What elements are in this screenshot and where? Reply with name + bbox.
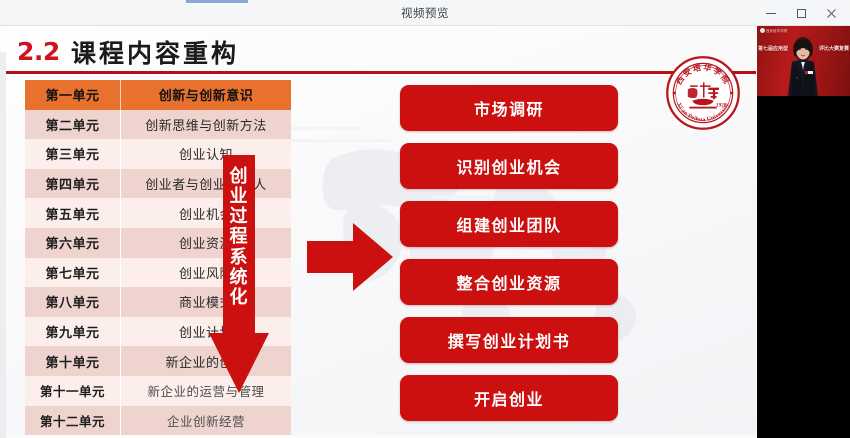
course-units-table: 第一单元 创新与创新意识 第二单元 创新思维与创新方法 第三单元 创业认知 第四… xyxy=(25,80,291,435)
unit-label: 第五单元 xyxy=(25,198,121,228)
unit-label: 第六单元 xyxy=(25,228,121,258)
unit-label: 第十一单元 xyxy=(25,376,121,406)
table-row: 第十单元 新企业的创建 xyxy=(25,346,291,376)
startup-process-flow: 市场调研 识别创业机会 组建创业团队 整合创业资源 撰写创业计划书 开启创业 xyxy=(400,85,618,421)
slide-header: 2.2 课程内容重构 xyxy=(1,31,756,75)
process-step-box[interactable]: 开启创业 xyxy=(400,375,618,421)
unit-content: 企业创新经营 xyxy=(121,406,291,435)
process-step-box[interactable]: 市场调研 xyxy=(400,85,618,131)
unit-content: 创业计划 xyxy=(121,317,291,347)
window-titlebar: 视频预览 xyxy=(0,0,850,26)
xian-peihua-university-seal-icon: 西安培华学院 Xi'an Peihua University 1928 xyxy=(665,55,741,131)
unit-label: 第七单元 xyxy=(25,258,121,288)
presenter-avatar xyxy=(786,32,820,96)
video-badge-text: 西安培华学院 xyxy=(766,28,788,33)
table-row: 第四单元 创业者与创业合伙人 xyxy=(25,169,291,199)
slide-canvas: 2.2 课程内容重构 西安培华学院 Xi'an Peihua Universit… xyxy=(1,27,756,435)
maximize-button[interactable] xyxy=(786,1,816,25)
unit-content: 商业模式 xyxy=(121,287,291,317)
process-step-box[interactable]: 识别创业机会 xyxy=(400,143,618,189)
process-step-box[interactable]: 撰写创业计划书 xyxy=(400,317,618,363)
table-row: 第二单元 创新思维与创新方法 xyxy=(25,110,291,140)
minimize-button[interactable] xyxy=(756,1,786,25)
unit-content: 创业风险 xyxy=(121,258,291,288)
slide-preview-area: 2.2 课程内容重构 西安培华学院 Xi'an Peihua Universit… xyxy=(0,26,757,438)
unit-label: 第三单元 xyxy=(25,139,121,169)
table-row: 第五单元 创业机会 xyxy=(25,198,291,228)
table-row: 第七单元 创业风险 xyxy=(25,258,291,288)
title-underline-rule xyxy=(1,71,756,74)
unit-content: 创新与创新意识 xyxy=(121,80,291,110)
table-row: 第六单元 创业资源 xyxy=(25,228,291,258)
page-title: 课程内容重构 xyxy=(71,34,239,70)
svg-text:1928: 1928 xyxy=(716,103,727,109)
table-row: 第一单元 创新与创新意识 xyxy=(25,80,291,110)
table-row: 第九单元 创业计划 xyxy=(25,317,291,347)
video-overlay-right: 评比大赛复赛 xyxy=(819,45,849,52)
minimize-icon xyxy=(766,13,776,14)
unit-label: 第二单元 xyxy=(25,110,121,140)
video-panel[interactable]: 西安培华学院 第七届应用型 评比大赛复赛 xyxy=(757,26,850,438)
video-badge: 西安培华学院 xyxy=(760,28,788,33)
window-controls xyxy=(756,0,846,26)
unit-content: 创业机会 xyxy=(121,198,291,228)
window-title: 视频预览 xyxy=(401,5,449,21)
unit-content: 新企业的创建 xyxy=(121,346,291,376)
close-icon xyxy=(827,9,836,18)
table-row: 第三单元 创业认知 xyxy=(25,139,291,169)
maximize-icon xyxy=(797,9,806,18)
unit-content: 创业资源 xyxy=(121,228,291,258)
badge-dot-icon xyxy=(760,28,765,33)
unit-label: 第四单元 xyxy=(25,169,121,199)
table-row: 第八单元 商业模式 xyxy=(25,287,291,317)
unit-content: 创业者与创业合伙人 xyxy=(121,169,291,199)
titlebar-accent-bar xyxy=(186,0,248,3)
section-number: 2.2 xyxy=(17,37,60,66)
process-step-box[interactable]: 整合创业资源 xyxy=(400,259,618,305)
right-arrow-icon xyxy=(307,217,393,297)
table-row: 第十一单元 新企业的运营与管理 xyxy=(25,376,291,406)
table-row: 第十二单元 企业创新经营 xyxy=(25,406,291,435)
process-step-box[interactable]: 组建创业团队 xyxy=(400,201,618,247)
unit-content: 新企业的运营与管理 xyxy=(121,376,291,406)
slide-left-edge xyxy=(0,52,6,438)
unit-label: 第八单元 xyxy=(25,287,121,317)
video-preview-window: 视频预览 xyxy=(0,0,850,438)
unit-label: 第十二单元 xyxy=(25,406,121,435)
video-overlay-left: 第七届应用型 xyxy=(758,45,788,52)
close-button[interactable] xyxy=(816,1,846,25)
unit-content: 创业认知 xyxy=(121,139,291,169)
unit-label: 第十单元 xyxy=(25,346,121,376)
video-thumbnail[interactable]: 西安培华学院 第七届应用型 评比大赛复赛 xyxy=(757,26,850,96)
unit-content: 创新思维与创新方法 xyxy=(121,110,291,140)
unit-label: 第九单元 xyxy=(25,317,121,347)
unit-label: 第一单元 xyxy=(25,80,121,110)
